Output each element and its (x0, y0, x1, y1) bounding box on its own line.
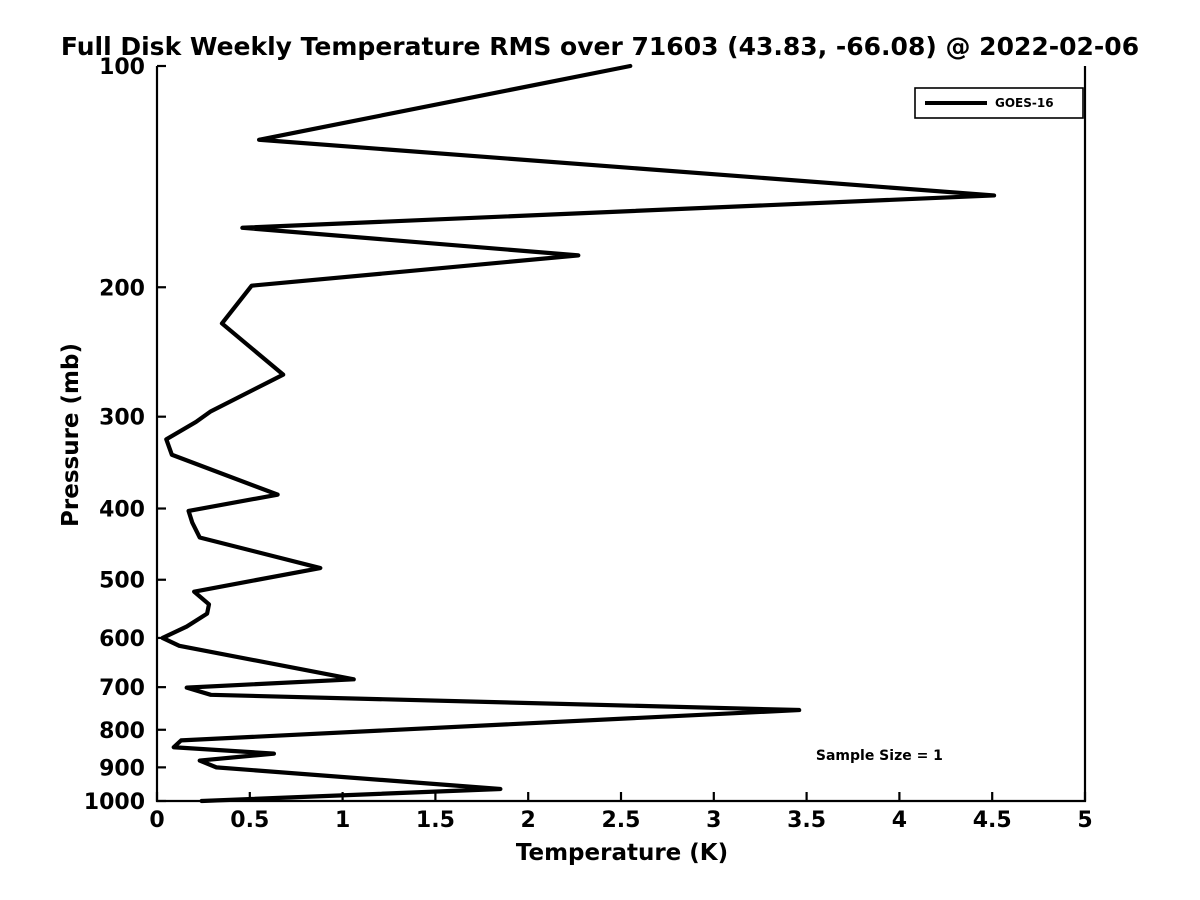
x-tick-label: 5 (1077, 808, 1092, 833)
axes (157, 66, 1085, 801)
series-line-goes-16 (163, 66, 994, 801)
x-tick-label: 3.5 (787, 808, 826, 833)
chart-title-group: Full Disk Weekly Temperature RMS over 71… (61, 32, 1139, 61)
x-tick-label: 1.5 (416, 808, 455, 833)
y-axis-ticks: 1002003004005006007008009001000 (84, 55, 166, 815)
y-tick-label: 400 (99, 498, 145, 523)
page-title: Full Disk Weekly Temperature RMS over 71… (61, 32, 1139, 61)
data-series-group (163, 66, 994, 801)
x-tick-label: 1 (335, 808, 350, 833)
y-tick-label: 800 (99, 719, 145, 744)
y-tick-label: 1000 (84, 790, 145, 815)
legend-entry-label: GOES-16 (995, 96, 1054, 110)
x-tick-label: 3 (706, 808, 721, 833)
y-tick-label: 900 (99, 756, 145, 781)
x-axis-label: Temperature (K) (516, 840, 728, 866)
y-tick-label: 100 (99, 55, 145, 80)
y-axis-label: Pressure (mb) (58, 343, 84, 527)
sample-size-annotation: Sample Size = 1 (816, 748, 943, 764)
chart-figure: Full Disk Weekly Temperature RMS over 71… (0, 0, 1200, 900)
chart-legend[interactable]: GOES-16 (915, 88, 1083, 118)
x-tick-label: 0 (149, 808, 164, 833)
y-tick-label: 700 (99, 676, 145, 701)
x-tick-label: 4.5 (973, 808, 1012, 833)
temperature-rms-profile-chart: Full Disk Weekly Temperature RMS over 71… (0, 0, 1200, 900)
y-tick-label: 500 (99, 569, 145, 594)
plot-frame (157, 66, 1085, 801)
y-tick-label: 600 (99, 627, 145, 652)
y-tick-label: 200 (99, 276, 145, 301)
x-tick-label: 0.5 (230, 808, 269, 833)
x-tick-label: 4 (892, 808, 907, 833)
y-tick-label: 300 (99, 406, 145, 431)
x-tick-label: 2 (521, 808, 536, 833)
x-tick-label: 2.5 (602, 808, 641, 833)
chart-annotations: Sample Size = 1 (816, 748, 943, 764)
